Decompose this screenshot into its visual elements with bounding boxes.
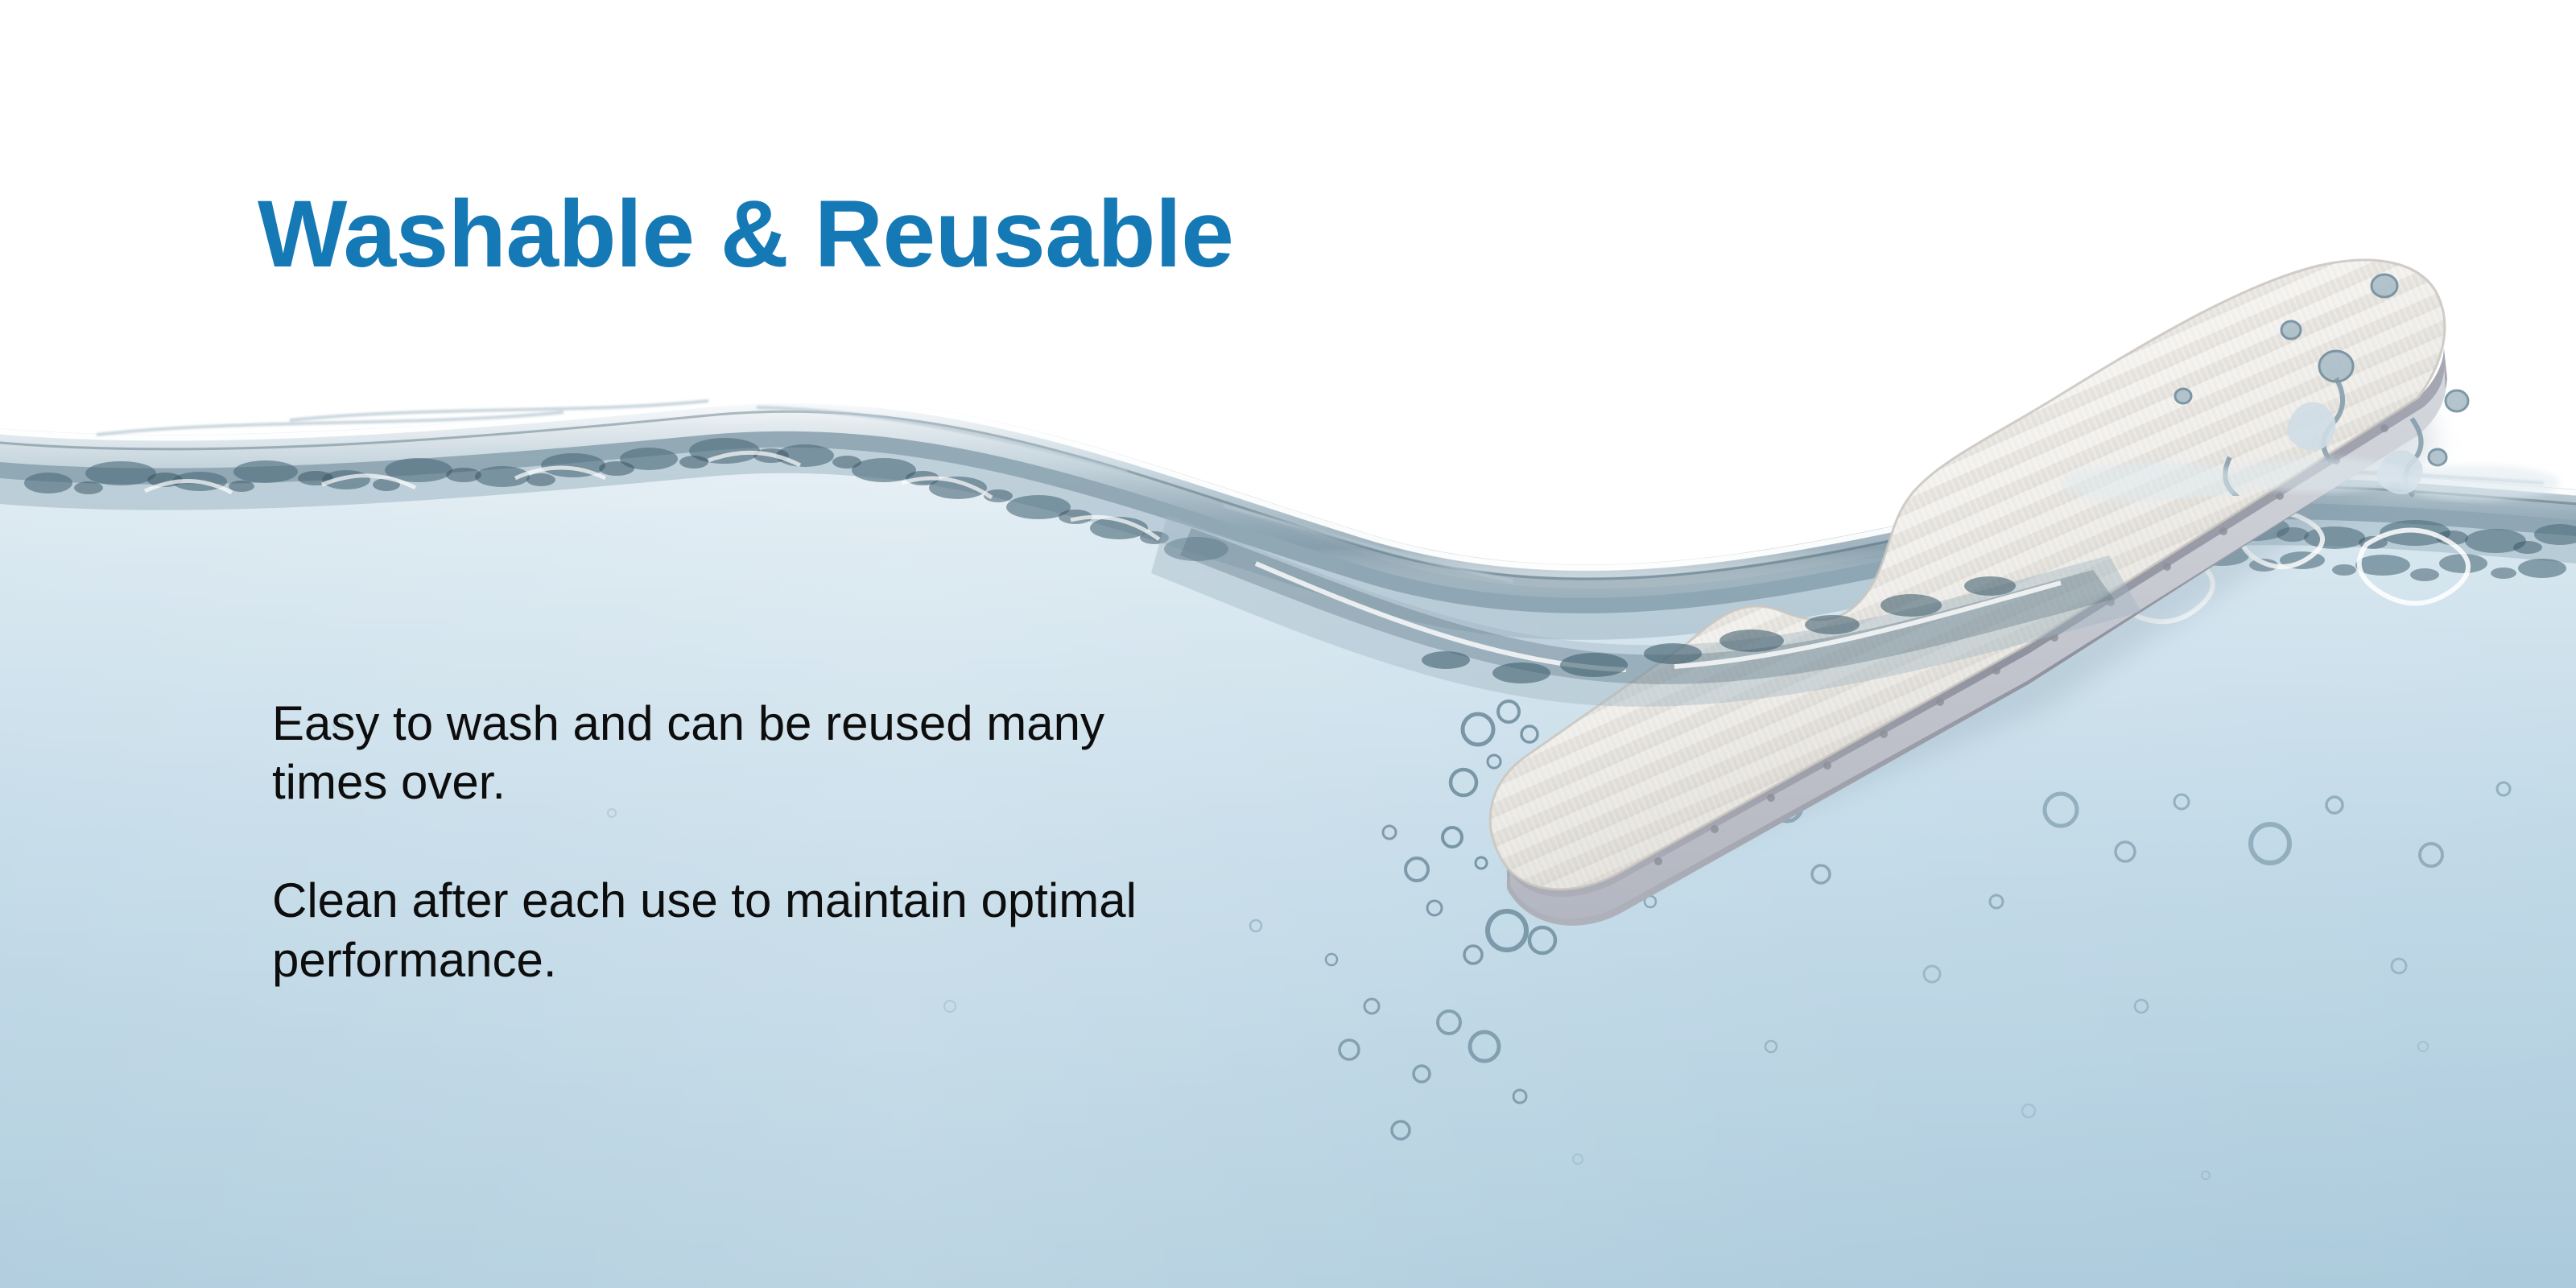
promo-banner: Washable & Reusable Easy to wash and can… — [0, 0, 2576, 1288]
description-paragraph-2: Clean after each use to maintain optimal… — [272, 871, 1222, 989]
page-title: Washable & Reusable — [258, 187, 1233, 282]
description-paragraph-1: Easy to wash and can be reused many time… — [272, 694, 1222, 811]
description-block: Easy to wash and can be reused many time… — [272, 694, 1222, 989]
